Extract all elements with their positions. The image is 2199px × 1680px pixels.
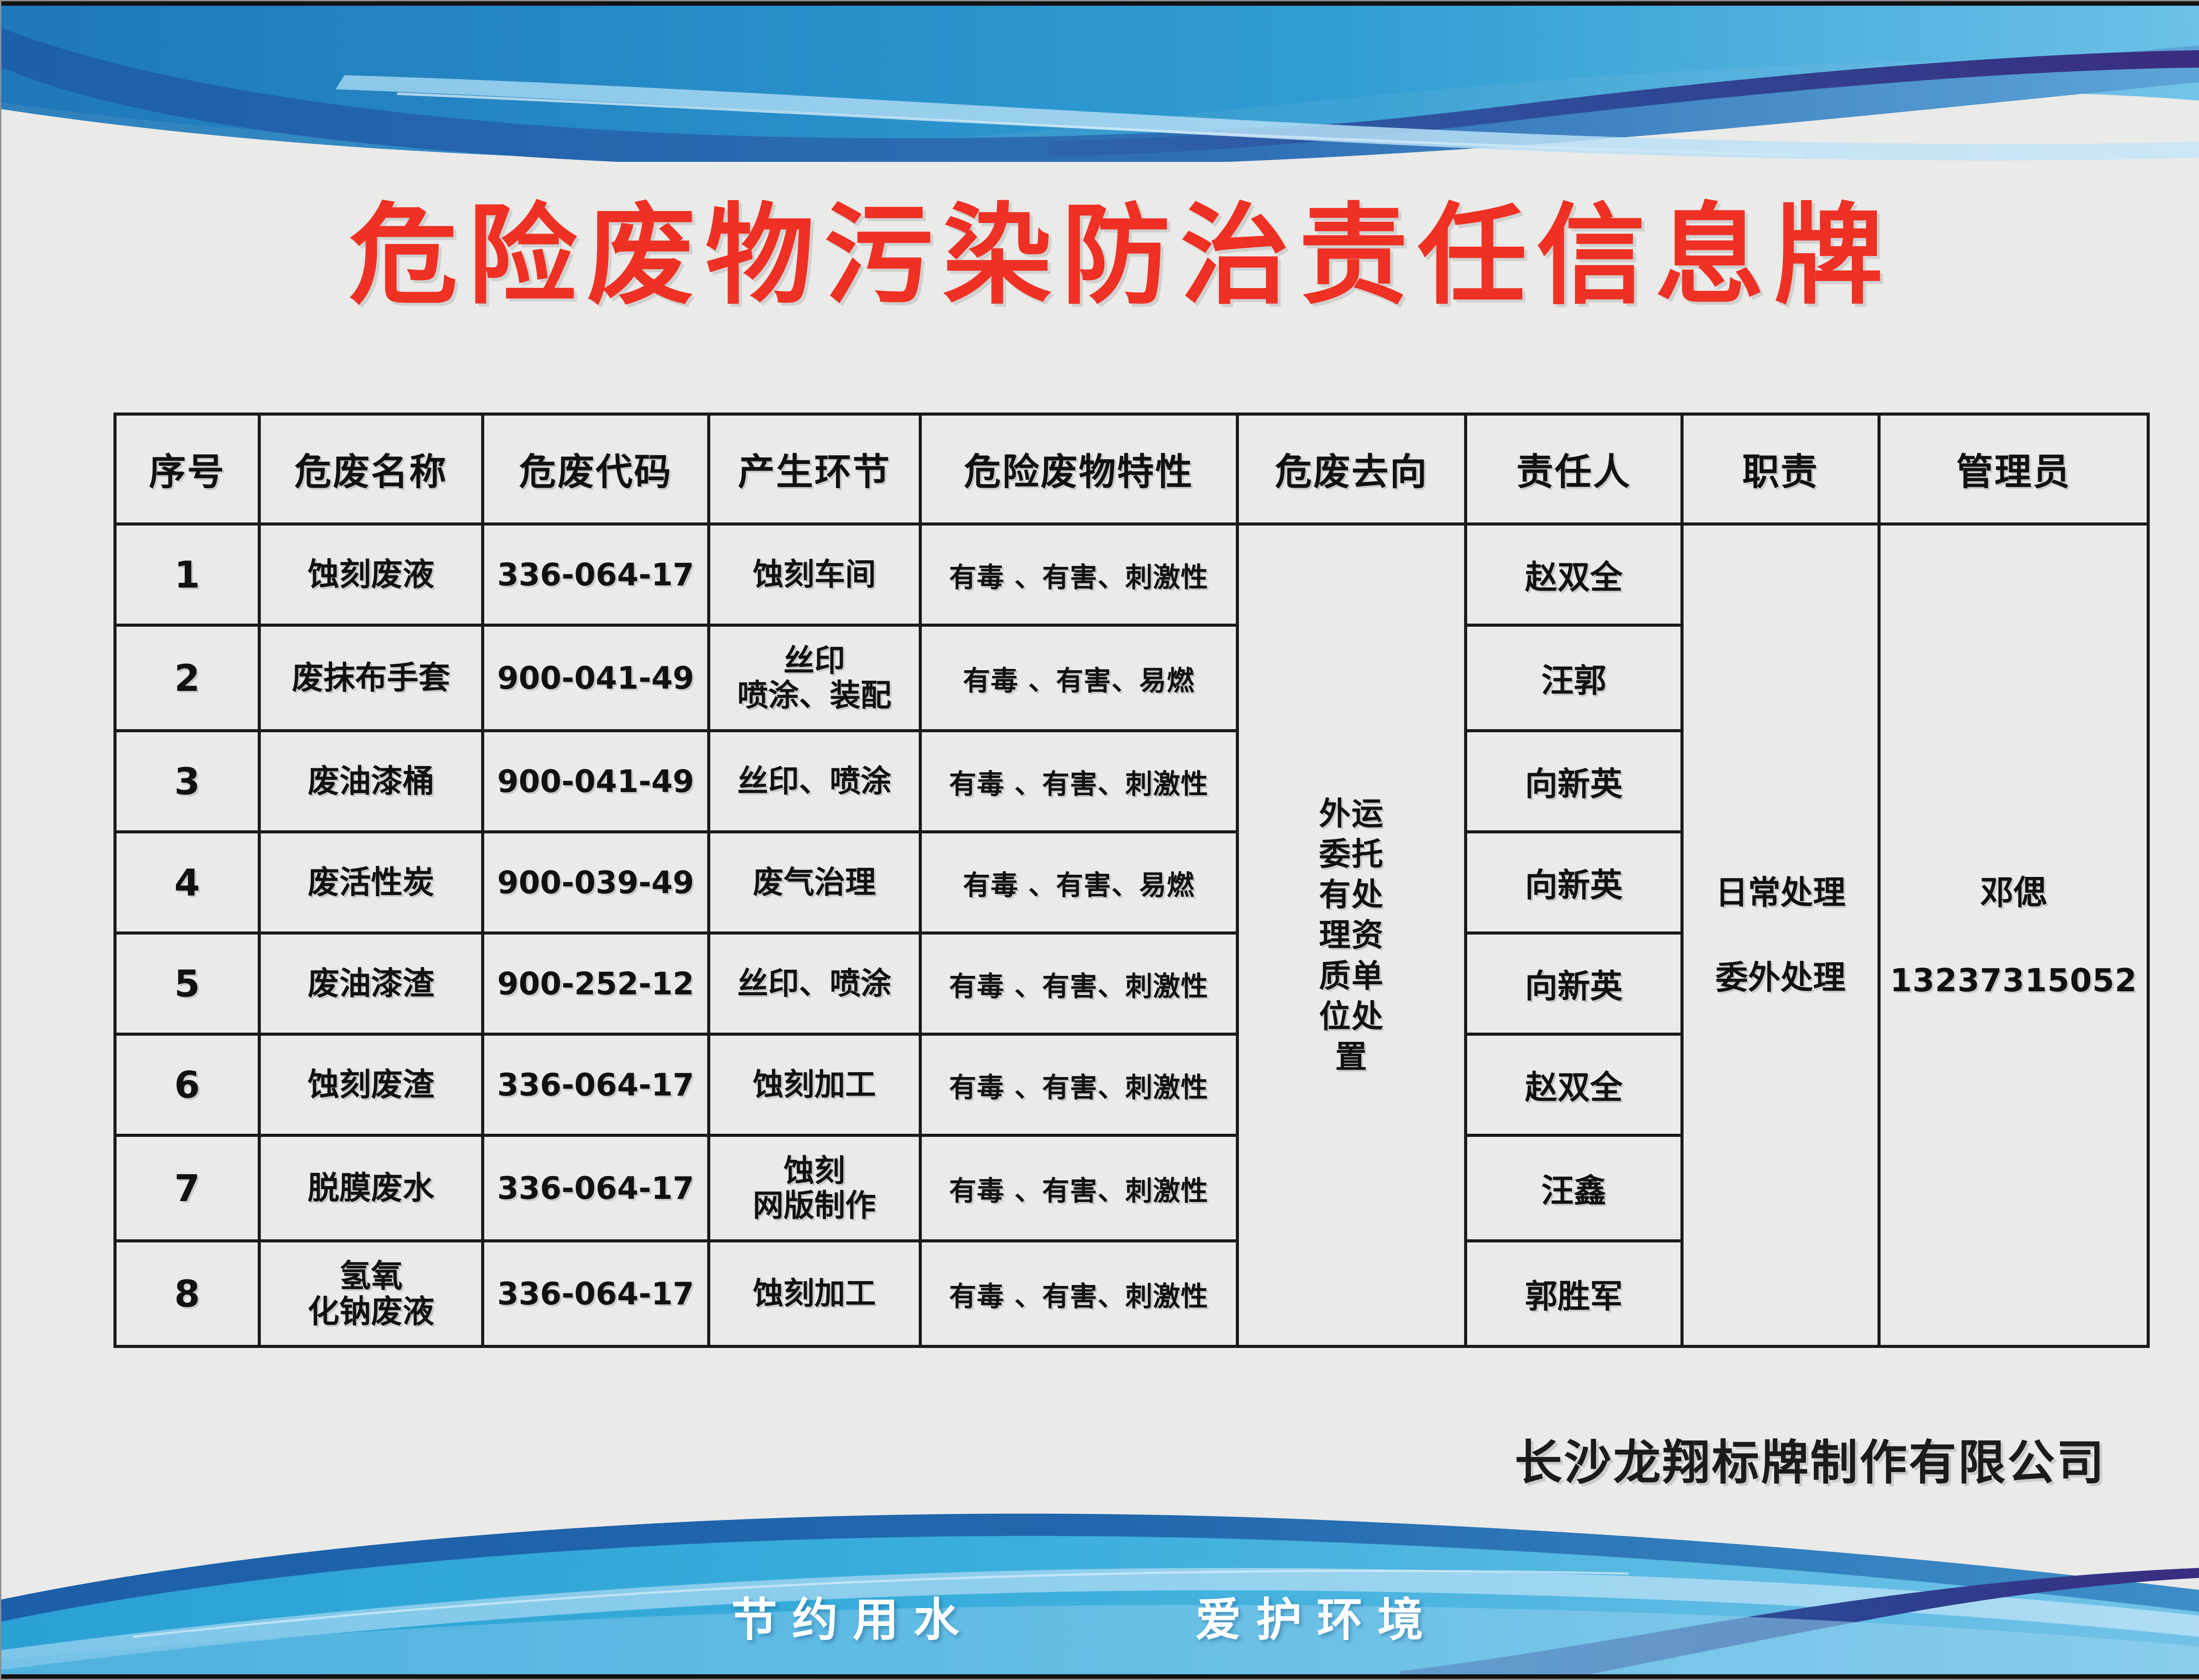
header-manager: 管理员 <box>1879 414 2148 524</box>
cell-code: 336-064-17 <box>483 1034 709 1136</box>
cell-index: 3 <box>115 731 259 832</box>
cell-character: 有毒 、有害、刺激性 <box>920 933 1237 1034</box>
destination-text: 外运委托有处理资质单位处置 <box>1312 793 1391 1077</box>
name-line-1: 氢氧 <box>263 1258 479 1294</box>
title-container: 危险废物污染防治责任信息牌 <box>1 201 2199 310</box>
stage-line-1: 丝印 <box>713 643 916 678</box>
cell-index: 5 <box>115 933 259 1034</box>
cell-name: 废油漆渣 <box>259 933 482 1034</box>
cell-index: 1 <box>115 524 259 625</box>
header-index: 序号 <box>115 414 259 524</box>
cell-stage: 丝印 喷涂、装配 <box>709 625 920 731</box>
header-code: 危废代码 <box>483 414 709 524</box>
cell-index: 7 <box>115 1136 259 1241</box>
cell-index: 6 <box>115 1034 259 1136</box>
cell-stage: 废气治理 <box>709 832 920 933</box>
header-name: 危废名称 <box>259 414 482 524</box>
slogan-save-water: 节约用水 <box>731 1582 974 1649</box>
header-character: 危险废物特性 <box>920 414 1237 524</box>
cell-stage: 蚀刻加工 <box>709 1034 920 1136</box>
header-duty: 职责 <box>1682 414 1879 524</box>
cell-character: 有毒 、有害、刺激性 <box>920 1136 1237 1241</box>
stage-line-2: 网版制作 <box>713 1188 916 1223</box>
info-table-wrapper: 序号 危废名称 危废代码 产生环节 危险废物特性 危废去向 责任人 职责 管理员… <box>113 413 2150 1348</box>
top-banner-decoration <box>1 1 2199 162</box>
cell-code: 900-041-49 <box>483 625 709 731</box>
cell-responsible: 向新英 <box>1466 731 1682 832</box>
cell-name: 氢氧 化钠废液 <box>259 1241 482 1347</box>
name-line-2: 化钠废液 <box>263 1294 479 1329</box>
cell-destination: 外运委托有处理资质单位处置 <box>1237 524 1465 1347</box>
cell-character: 有毒 、有害、刺激性 <box>920 731 1237 832</box>
cell-name: 脱膜废水 <box>259 1136 482 1241</box>
cell-responsible: 郭胜军 <box>1466 1241 1682 1347</box>
page-title: 危险废物污染防治责任信息牌 <box>349 201 1893 310</box>
cell-responsible: 汪鑫 <box>1466 1136 1682 1241</box>
duty-line-2: 委外处理 <box>1686 935 1875 1020</box>
stage-line-2: 喷涂、装配 <box>713 678 916 712</box>
cell-stage: 蚀刻加工 <box>709 1241 920 1347</box>
cell-name: 废活性炭 <box>259 832 482 933</box>
stage-line-1: 蚀刻 <box>713 1154 916 1188</box>
cell-stage: 蚀刻车间 <box>709 524 920 625</box>
cell-character: 有毒 、有害、刺激性 <box>920 1241 1237 1347</box>
sign-board: 危险废物污染防治责任信息牌 序号 危废名称 危废代码 产生环节 危险废物特性 危… <box>0 0 2199 1680</box>
cell-responsible: 汪郭 <box>1466 625 1682 731</box>
cell-stage: 丝印、喷涂 <box>709 933 920 1034</box>
company-name: 长沙龙翔标牌制作有限公司 <box>1515 1424 2106 1493</box>
bottom-banner-decoration <box>1 1505 2199 1679</box>
slogan-protect-environment: 爱护环境 <box>1195 1582 1438 1649</box>
cell-code: 900-039-49 <box>483 832 709 933</box>
cell-index: 8 <box>115 1241 259 1347</box>
header-stage: 产生环节 <box>709 414 920 524</box>
bottom-banner-waves <box>1 1505 2199 1679</box>
table-header-row: 序号 危废名称 危废代码 产生环节 危险废物特性 危废去向 责任人 职责 管理员 <box>115 414 2148 524</box>
cell-duty: 日常处理 委外处理 <box>1682 524 1879 1347</box>
cell-responsible: 赵双全 <box>1466 524 1682 625</box>
cell-code: 336-064-17 <box>483 524 709 625</box>
manager-phone: 13237315052 <box>1883 938 2144 1023</box>
cell-stage: 丝印、喷涂 <box>709 731 920 832</box>
header-destination: 危废去向 <box>1237 414 1465 524</box>
cell-code: 900-041-49 <box>483 731 709 832</box>
cell-responsible: 赵双全 <box>1466 1034 1682 1136</box>
table-row: 1 蚀刻废液 336-064-17 蚀刻车间 有毒 、有害、刺激性 外运委托有处… <box>115 524 2148 625</box>
header-responsible: 责任人 <box>1466 414 1682 524</box>
cell-manager: 邓偲 13237315052 <box>1879 524 2148 1347</box>
cell-character: 有毒 、有害、刺激性 <box>920 1034 1237 1136</box>
top-banner-waves <box>1 1 2199 162</box>
cell-responsible: 向新英 <box>1466 933 1682 1034</box>
cell-name: 废抹布手套 <box>259 625 482 731</box>
cell-index: 2 <box>115 625 259 731</box>
cell-index: 4 <box>115 832 259 933</box>
hazardous-waste-table: 序号 危废名称 危废代码 产生环节 危险废物特性 危废去向 责任人 职责 管理员… <box>113 413 2150 1348</box>
cell-code: 336-064-17 <box>483 1136 709 1241</box>
cell-name: 废油漆桶 <box>259 731 482 832</box>
cell-character: 有毒 、有害、易燃 <box>920 625 1237 731</box>
cell-name: 蚀刻废液 <box>259 524 482 625</box>
cell-code: 900-252-12 <box>483 933 709 1034</box>
duty-line-1: 日常处理 <box>1686 851 1875 935</box>
cell-character: 有毒 、有害、易燃 <box>920 832 1237 933</box>
cell-name: 蚀刻废渣 <box>259 1034 482 1136</box>
cell-stage: 蚀刻 网版制作 <box>709 1136 920 1241</box>
cell-code: 336-064-17 <box>483 1241 709 1347</box>
manager-name: 邓偲 <box>1883 847 2144 938</box>
cell-responsible: 向新英 <box>1466 832 1682 933</box>
cell-character: 有毒 、有害、刺激性 <box>920 524 1237 625</box>
